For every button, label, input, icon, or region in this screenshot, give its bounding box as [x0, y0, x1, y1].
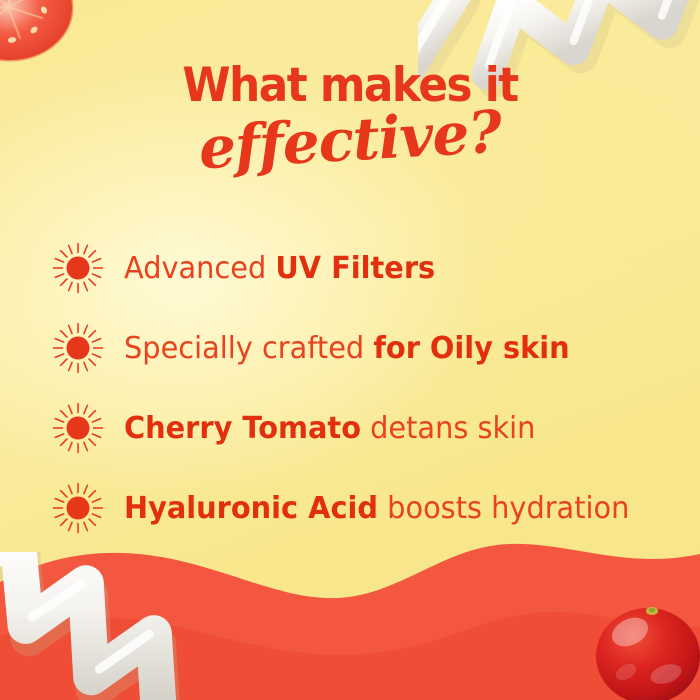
benefit-item: Hyaluronic Acid boosts hydration: [52, 468, 672, 548]
benefit-label: Specially crafted for Oily skin: [124, 332, 570, 365]
benefit-label: Advanced UV Filters: [124, 252, 435, 285]
sun-icon: [52, 322, 104, 374]
benefit-list: Advanced UV FiltersSpecially crafted for…: [52, 228, 672, 548]
headline-line-1: What makes it: [25, 62, 676, 109]
benefit-text-bold: UV Filters: [275, 251, 435, 286]
promo-poster: What makes it effective? Advanced UV Fil…: [0, 0, 700, 700]
sun-icon: [52, 482, 104, 534]
benefit-item: Cherry Tomato detans skin: [52, 388, 672, 468]
benefit-item: Specially crafted for Oily skin: [52, 308, 672, 388]
benefit-text-bold: Cherry Tomato: [124, 411, 361, 446]
benefit-text-regular: Advanced: [124, 251, 275, 286]
benefit-text-bold: for Oily skin: [373, 331, 569, 366]
cherry-tomato-bottom-right: [590, 596, 700, 700]
benefit-text-bold: Hyaluronic Acid: [124, 491, 378, 526]
headline-line-2-wrapper: effective?: [0, 107, 700, 181]
benefit-item: Advanced UV Filters: [52, 228, 672, 308]
cream-swirl-bottom-left: [0, 552, 198, 700]
page-title: What makes it effective?: [0, 62, 700, 181]
benefit-text-regular: boosts hydration: [378, 491, 629, 526]
tomato-slice-top-left: [0, 0, 86, 70]
benefit-text-regular: detans skin: [361, 411, 535, 446]
headline-line-2: effective?: [197, 103, 502, 178]
benefit-label: Hyaluronic Acid boosts hydration: [124, 492, 629, 525]
benefit-text-regular: Specially crafted: [124, 331, 373, 366]
benefit-label: Cherry Tomato detans skin: [124, 412, 535, 445]
sun-icon: [52, 402, 104, 454]
sun-icon: [52, 242, 104, 294]
